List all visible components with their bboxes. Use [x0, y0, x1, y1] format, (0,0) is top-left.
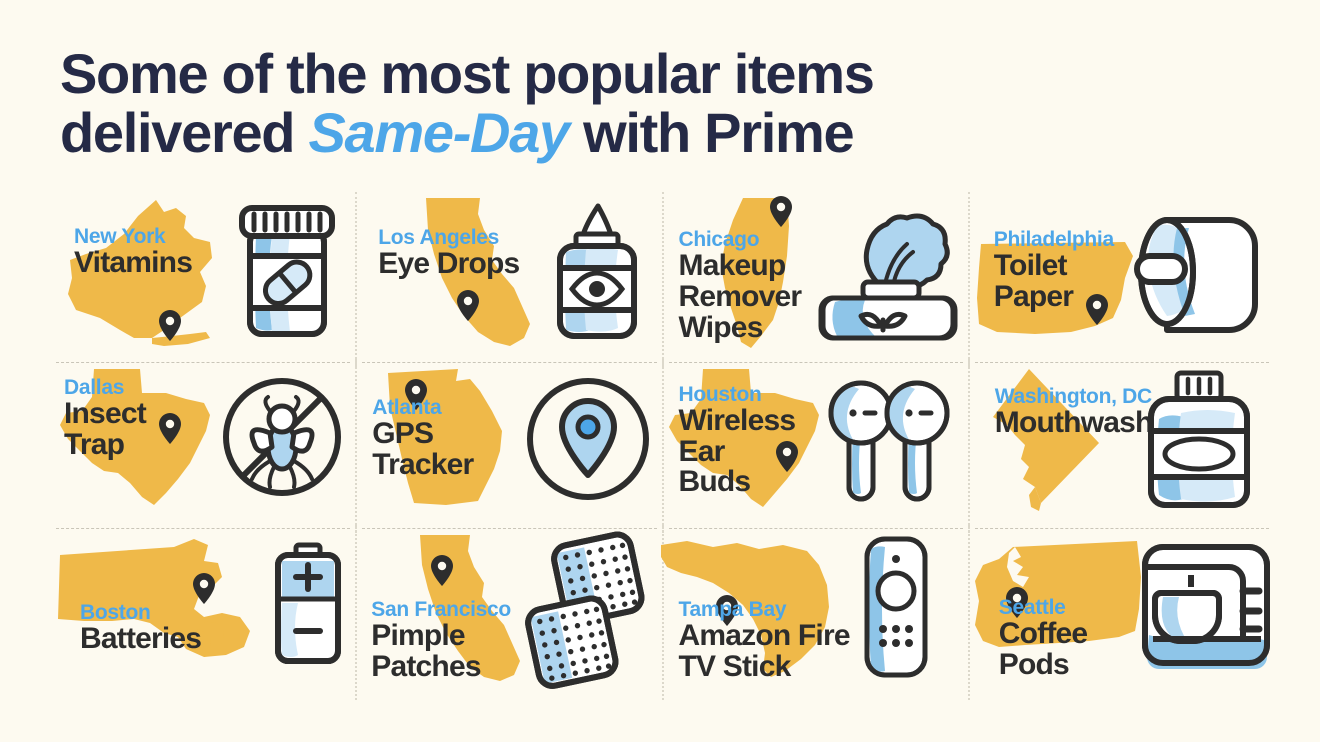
page-title: Some of the most popular items delivered… [60, 44, 1130, 163]
toilet-paper-roll-icon [1127, 210, 1262, 340]
city-label: Houston [679, 384, 796, 405]
title-line-2-pre: delivered [60, 101, 308, 164]
cell-labels: Seattle Coffee Pods [999, 597, 1088, 681]
grid-cell-chicago-makeup-remover-wipes[interactable]: Chicago Makeup Remover Wipes [663, 196, 969, 363]
coffee-maker-icon [1139, 543, 1274, 668]
city-label: Boston [80, 602, 201, 623]
title-line-1: Some of the most popular items [60, 42, 874, 105]
grid-cell-boston-batteries[interactable]: Boston Batteries [50, 529, 356, 696]
item-label: Wireless Ear Buds [679, 406, 796, 499]
items-grid: New York Vitamins [50, 196, 1275, 696]
item-label: Makeup Remover Wipes [679, 251, 802, 344]
cell-labels: Houston Wireless Ear Buds [679, 384, 796, 499]
city-label: Los Angeles [378, 227, 519, 248]
city-label: Philadelphia [994, 229, 1114, 250]
patch-bottom [526, 596, 619, 689]
cell-labels: San Francisco Pimple Patches [371, 599, 511, 683]
item-label: GPS Tracker [372, 419, 473, 481]
grid-cell-philadelphia-toilet-paper[interactable]: Philadelphia Toilet Paper [969, 196, 1275, 363]
battery-icon [268, 543, 348, 665]
item-label: Batteries [80, 624, 201, 655]
pill-bottle-icon [232, 204, 342, 342]
earbud-right [887, 383, 947, 499]
city-label: Seattle [999, 597, 1088, 618]
cell-labels: Tampa Bay Amazon Fire TV Stick [679, 599, 850, 683]
earbud-left [831, 383, 891, 499]
city-label: San Francisco [371, 599, 511, 620]
item-label: Insect Trap [64, 399, 146, 461]
grid-cell-tampa-bay-amazon-fire-tv-stick[interactable]: Tampa Bay Amazon Fire TV Stick [663, 529, 969, 696]
map-pin-circle-icon [524, 375, 652, 503]
title-line-2-post: with Prime [569, 101, 853, 164]
cell-artwork [50, 196, 356, 363]
city-label: Chicago [679, 229, 802, 250]
fire-tv-remote-icon [855, 535, 937, 680]
grid-cell-atlanta-gps-tracker[interactable]: Atlanta GPS Tracker [356, 363, 662, 530]
cell-labels: Chicago Makeup Remover Wipes [679, 229, 802, 344]
grid-cell-san-francisco-pimple-patches[interactable]: San Francisco Pimple Patches [356, 529, 662, 696]
city-label: New York [74, 226, 192, 247]
no-insect-icon [220, 375, 345, 500]
item-label: Pimple Patches [371, 621, 511, 683]
city-label: Dallas [64, 377, 146, 398]
title-highlight-same-day: Same-Day [308, 101, 568, 164]
wipes-pack-icon [823, 208, 953, 343]
pimple-patches-icon [521, 533, 656, 685]
cell-labels: Atlanta GPS Tracker [372, 397, 473, 481]
grid-cell-houston-wireless-ear-buds[interactable]: Houston Wireless Ear Buds [663, 363, 969, 530]
item-label: Mouthwash [995, 408, 1153, 439]
fly-icon [252, 397, 312, 487]
grid-cell-los-angeles-eye-drops[interactable]: Los Angeles Eye Drops [356, 196, 662, 363]
grid-cell-washington-dc-mouthwash[interactable]: Washington, DC Mouthwash [969, 363, 1275, 530]
city-label: Washington, DC [995, 386, 1153, 407]
cell-labels: Philadelphia Toilet Paper [994, 229, 1114, 313]
earbuds-icon [827, 379, 962, 505]
eye-drops-bottle-icon [546, 202, 646, 342]
city-label: Atlanta [372, 397, 473, 418]
item-label: Vitamins [74, 248, 192, 279]
item-label: Eye Drops [378, 249, 519, 280]
item-label: Toilet Paper [994, 251, 1114, 313]
mouthwash-bottle-icon [1147, 371, 1257, 511]
cell-labels: Dallas Insect Trap [64, 377, 146, 461]
item-label: Coffee Pods [999, 619, 1088, 681]
grid-cell-seattle-coffee-pods[interactable]: Seattle Coffee Pods [969, 529, 1275, 696]
cell-labels: New York Vitamins [74, 226, 192, 279]
item-label: Amazon Fire TV Stick [679, 621, 850, 683]
city-label: Tampa Bay [679, 599, 850, 620]
grid-cell-new-york-vitamins[interactable]: New York Vitamins [50, 196, 356, 363]
grid-cell-dallas-insect-trap[interactable]: Dallas Insect Trap [50, 363, 356, 530]
cell-labels: Los Angeles Eye Drops [378, 227, 519, 280]
cell-labels: Boston Batteries [80, 602, 201, 655]
cell-labels: Washington, DC Mouthwash [995, 386, 1153, 439]
